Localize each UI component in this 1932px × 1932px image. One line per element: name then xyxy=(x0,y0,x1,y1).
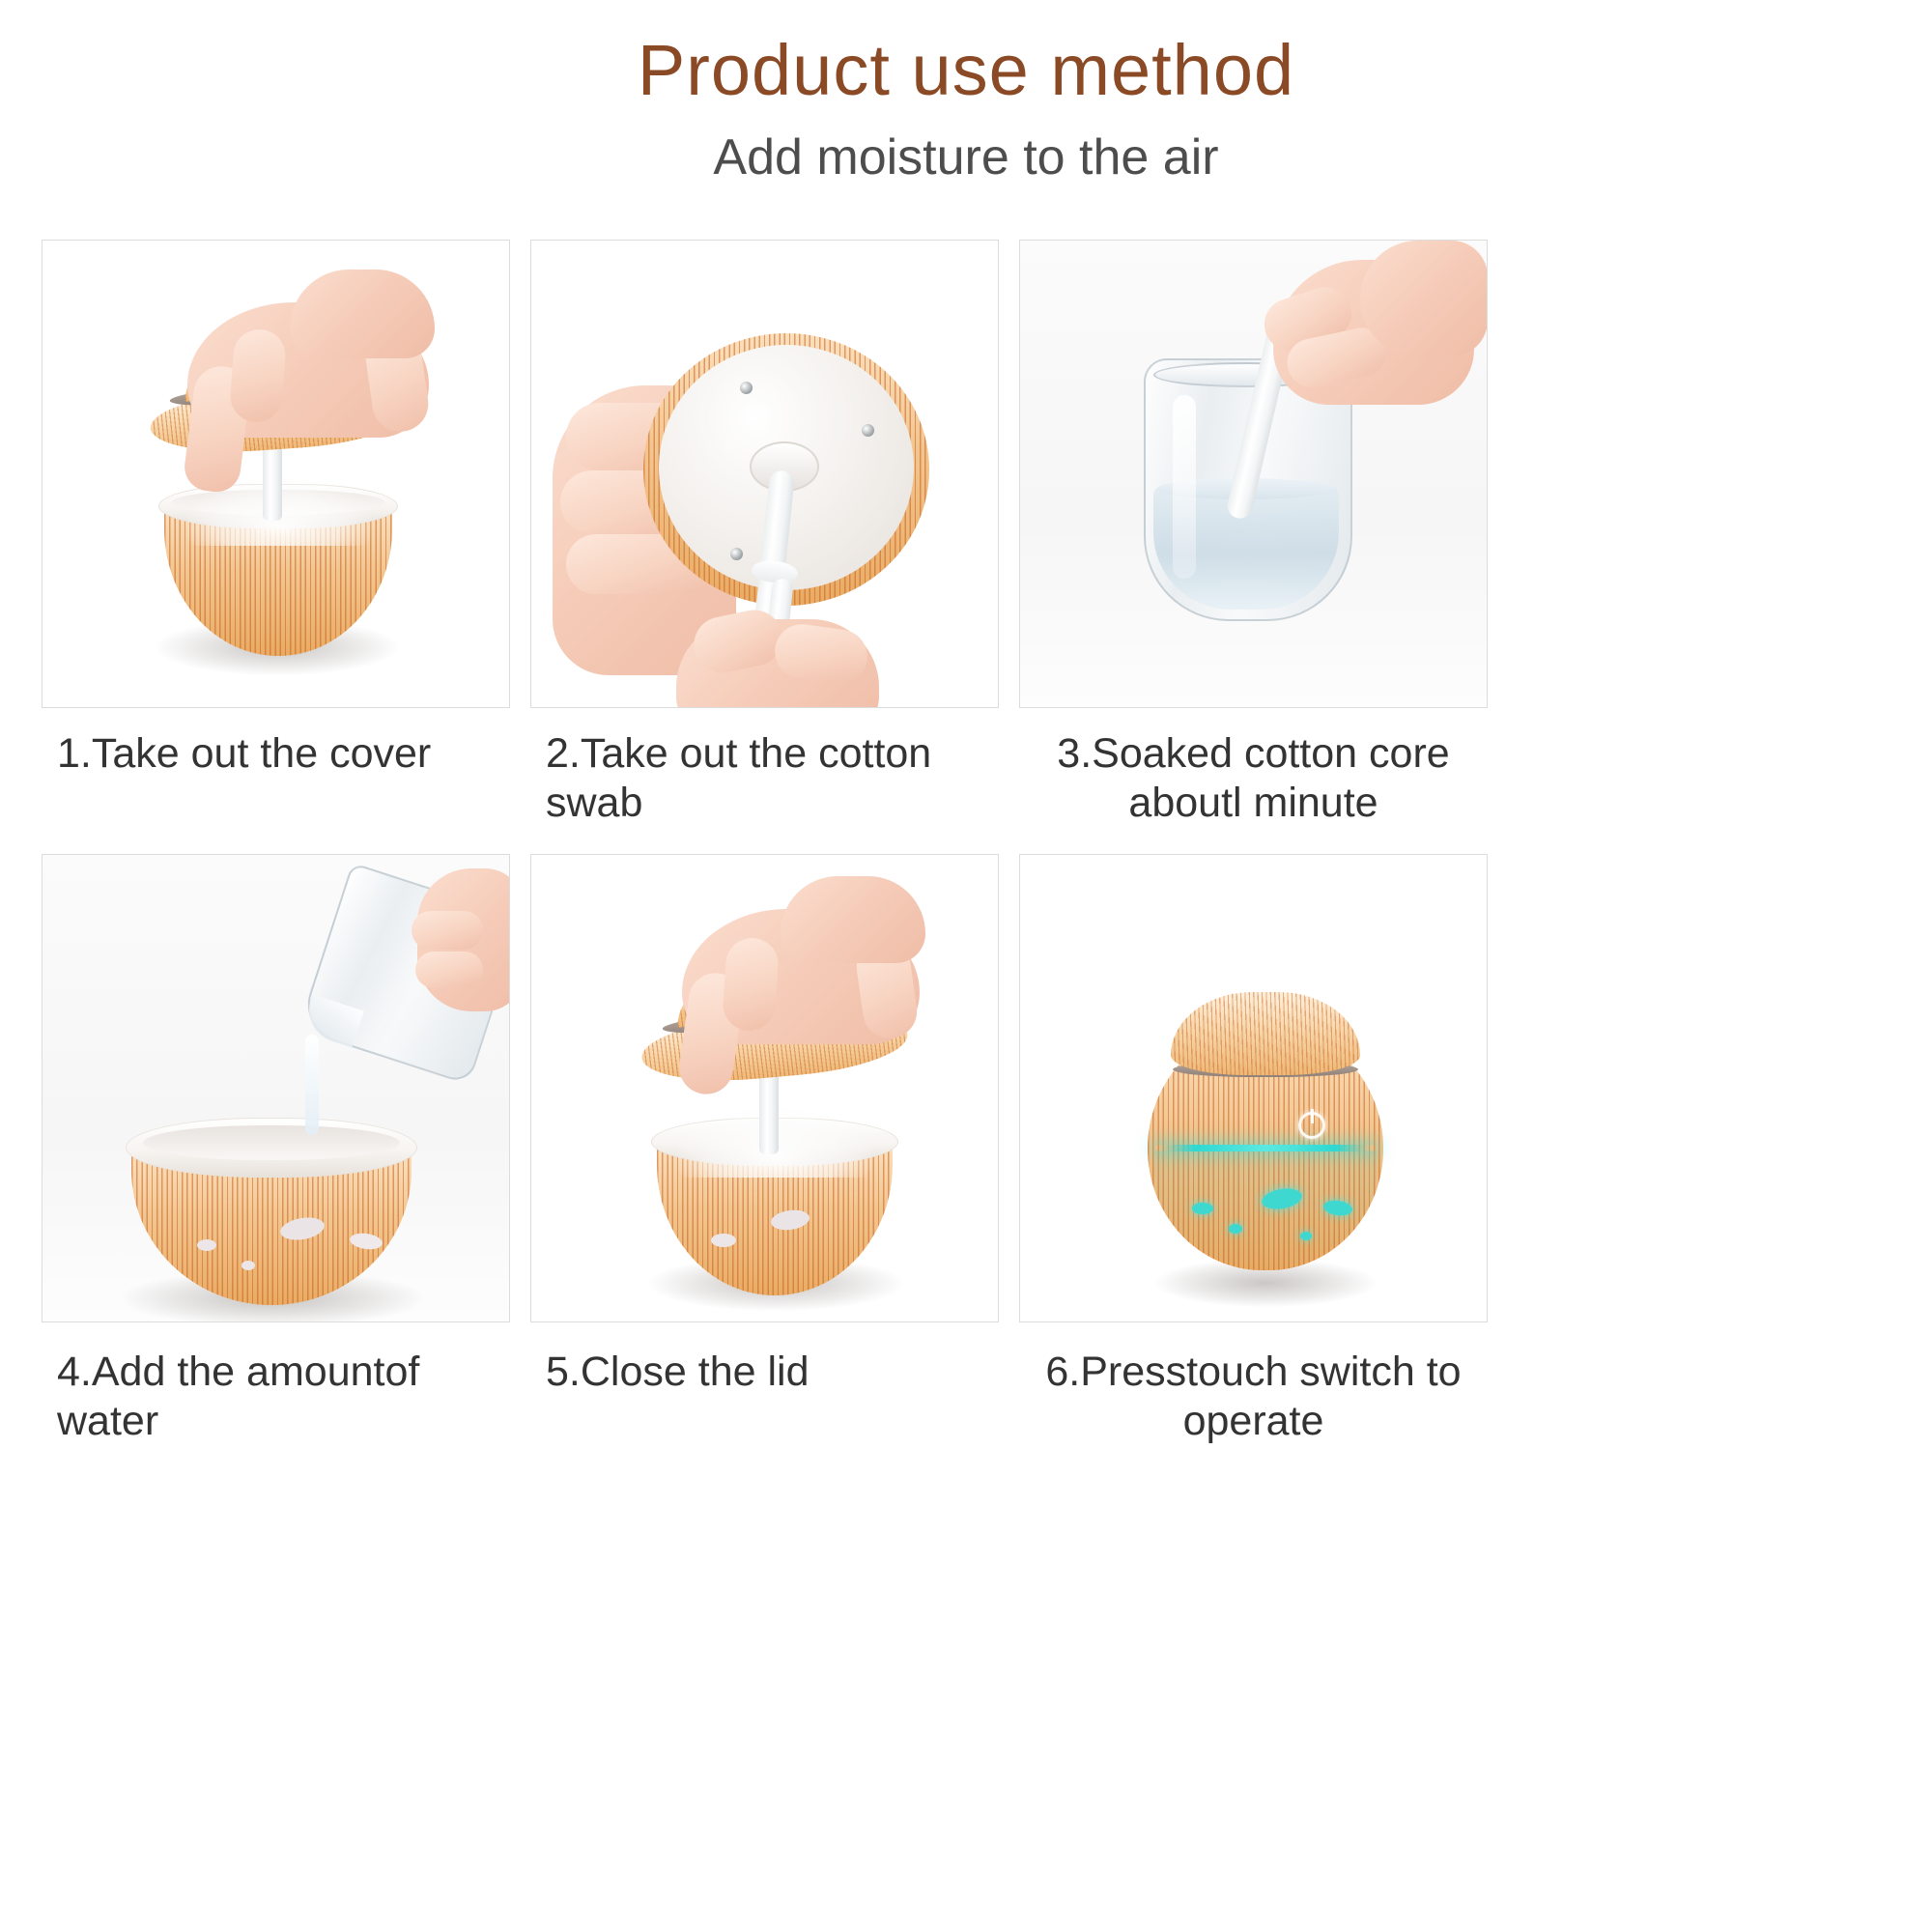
step-caption-6-line1: 6.Presstouch switch to xyxy=(1019,1348,1488,1397)
step-card-6: 6.Presstouch switch to operate xyxy=(1019,854,1488,1445)
step-caption-3: 3.Soaked cotton core aboutl minute xyxy=(1019,708,1488,827)
screw-icon xyxy=(740,382,753,394)
step-photo-2 xyxy=(530,240,999,708)
step-photo-6 xyxy=(1019,854,1488,1322)
step-caption-1: 1.Take out the cover xyxy=(42,708,510,822)
header: Product use method Add moisture to the a… xyxy=(0,0,1932,184)
step-photo-3 xyxy=(1019,240,1488,708)
step-card-3: 3.Soaked cotton core aboutl minute xyxy=(1019,240,1488,827)
step-photo-1 xyxy=(42,240,510,708)
screw-icon xyxy=(730,548,743,560)
step-card-5: 5.Close the lid xyxy=(530,854,999,1445)
humidifier-lid xyxy=(1171,992,1360,1075)
steps-grid: 1.Take out the cover xyxy=(42,240,1890,1446)
step-photo-5 xyxy=(530,854,999,1322)
step-caption-3-line1: 3.Soaked cotton core xyxy=(1019,729,1488,779)
step-card-2: 2.Take out the cotton swab xyxy=(530,240,999,827)
row-spacer xyxy=(42,827,1488,854)
page-subtitle: Add moisture to the air xyxy=(0,131,1932,185)
step-caption-6: 6.Presstouch switch to operate xyxy=(1019,1322,1488,1445)
step-card-4: 4.Add the amountof water xyxy=(42,854,510,1445)
screw-icon xyxy=(862,424,874,437)
page-title: Product use method xyxy=(0,33,1932,108)
step-photo-4 xyxy=(42,854,510,1322)
step-caption-5: 5.Close the lid xyxy=(530,1322,999,1436)
step-caption-3-line2: aboutl minute xyxy=(1019,779,1488,828)
step-card-1: 1.Take out the cover xyxy=(42,240,510,827)
step-caption-6-line2: operate xyxy=(1019,1397,1488,1446)
water-stream xyxy=(305,1035,319,1135)
step-caption-4: 4.Add the amountof water xyxy=(42,1322,510,1445)
step-caption-2: 2.Take out the cotton swab xyxy=(530,708,999,827)
